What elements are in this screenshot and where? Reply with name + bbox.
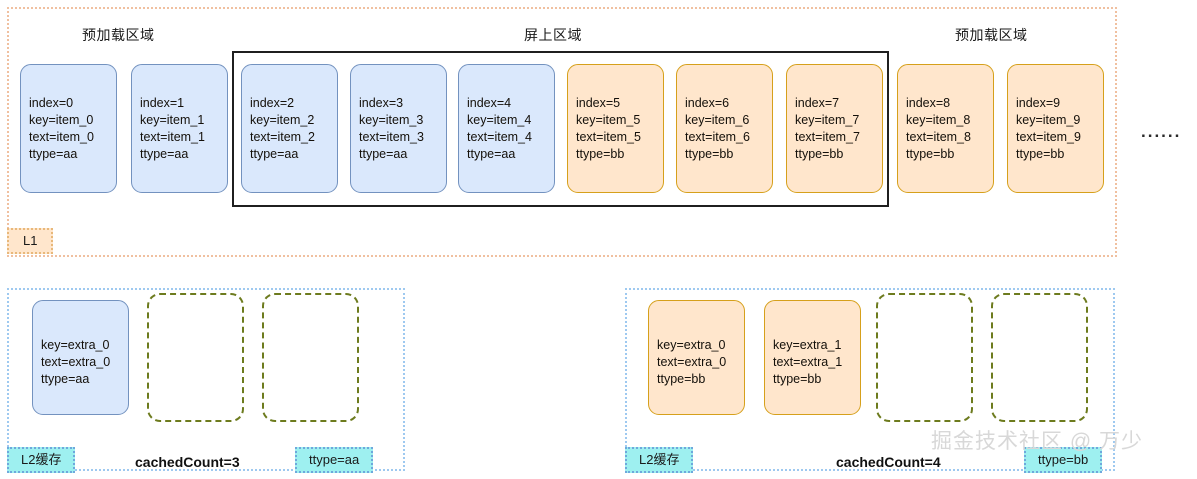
card-key: key=item_1 xyxy=(140,112,227,129)
l1-card[interactable]: index=9 key=item_9 text=item_9 ttype=bb xyxy=(1007,64,1104,193)
card-key: key=item_0 xyxy=(29,112,116,129)
l1-card[interactable]: index=5 key=item_5 text=item_5 ttype=bb xyxy=(567,64,664,193)
card-text: text=item_5 xyxy=(576,129,663,146)
watermark: 掘金技术社区 @ 万少 xyxy=(931,425,1143,455)
card-index: index=4 xyxy=(467,95,554,112)
card-text: text=extra_1 xyxy=(773,354,860,371)
card-key: key=item_4 xyxy=(467,112,554,129)
preload-region-right-title: 预加载区域 xyxy=(955,25,1028,45)
card-text: text=item_2 xyxy=(250,129,337,146)
card-text: text=item_3 xyxy=(359,129,446,146)
card-key: key=item_9 xyxy=(1016,112,1103,129)
l2-left-empty-slot xyxy=(262,293,359,422)
card-index: index=9 xyxy=(1016,95,1103,112)
l2-right-cached-count: cachedCount=4 xyxy=(836,454,941,470)
onscreen-region-title: 屏上区域 xyxy=(524,25,582,45)
card-text: text=item_1 xyxy=(140,129,227,146)
card-ttype: ttype=aa xyxy=(41,371,128,388)
card-text: text=extra_0 xyxy=(657,354,744,371)
card-index: index=0 xyxy=(29,95,116,112)
card-index: index=7 xyxy=(795,95,882,112)
card-key: key=extra_0 xyxy=(657,337,744,354)
card-ttype: ttype=aa xyxy=(250,146,337,163)
card-index: index=2 xyxy=(250,95,337,112)
card-ttype: ttype=aa xyxy=(359,146,446,163)
l2-left-ttype-badge: ttype=aa xyxy=(295,447,373,473)
card-index: index=5 xyxy=(576,95,663,112)
l2-left-card[interactable]: key=extra_0 text=extra_0 ttype=aa xyxy=(32,300,129,415)
card-index: index=8 xyxy=(906,95,993,112)
l2-left-cached-count: cachedCount=3 xyxy=(135,454,240,470)
card-ttype: ttype=bb xyxy=(906,146,993,163)
l2-right-badge: L2缓存 xyxy=(625,447,693,473)
card-key: key=extra_1 xyxy=(773,337,860,354)
card-text: text=item_8 xyxy=(906,129,993,146)
l1-card[interactable]: index=8 key=item_8 text=item_8 ttype=bb xyxy=(897,64,994,193)
card-ttype: ttype=bb xyxy=(773,371,860,388)
card-key: key=item_5 xyxy=(576,112,663,129)
l1-card[interactable]: index=4 key=item_4 text=item_4 ttype=aa xyxy=(458,64,555,193)
l2-left-empty-slot xyxy=(147,293,244,422)
l2-right-empty-slot xyxy=(991,293,1088,422)
card-ttype: ttype=bb xyxy=(685,146,772,163)
card-key: key=item_8 xyxy=(906,112,993,129)
card-text: text=item_9 xyxy=(1016,129,1103,146)
card-key: key=extra_0 xyxy=(41,337,128,354)
card-key: key=item_6 xyxy=(685,112,772,129)
card-text: text=item_4 xyxy=(467,129,554,146)
card-text: text=item_0 xyxy=(29,129,116,146)
card-ttype: ttype=aa xyxy=(140,146,227,163)
card-text: text=item_6 xyxy=(685,129,772,146)
card-index: index=3 xyxy=(359,95,446,112)
more-items-ellipsis: ...... xyxy=(1141,122,1181,142)
card-ttype: ttype=bb xyxy=(576,146,663,163)
l1-card[interactable]: index=3 key=item_3 text=item_3 ttype=aa xyxy=(350,64,447,193)
card-ttype: ttype=bb xyxy=(795,146,882,163)
card-index: index=1 xyxy=(140,95,227,112)
l1-card[interactable]: index=1 key=item_1 text=item_1 ttype=aa xyxy=(131,64,228,193)
card-ttype: ttype=aa xyxy=(467,146,554,163)
l1-card[interactable]: index=0 key=item_0 text=item_0 ttype=aa xyxy=(20,64,117,193)
card-ttype: ttype=bb xyxy=(1016,146,1103,163)
l2-left-badge: L2缓存 xyxy=(7,447,75,473)
preload-region-left-title: 预加载区域 xyxy=(82,25,155,45)
card-ttype: ttype=bb xyxy=(657,371,744,388)
l1-card[interactable]: index=6 key=item_6 text=item_6 ttype=bb xyxy=(676,64,773,193)
l1-badge: L1 xyxy=(7,228,53,254)
l2-right-card[interactable]: key=extra_1 text=extra_1 ttype=bb xyxy=(764,300,861,415)
card-index: index=6 xyxy=(685,95,772,112)
l1-card[interactable]: index=7 key=item_7 text=item_7 ttype=bb xyxy=(786,64,883,193)
card-text: text=extra_0 xyxy=(41,354,128,371)
card-key: key=item_2 xyxy=(250,112,337,129)
card-text: text=item_7 xyxy=(795,129,882,146)
l2-right-empty-slot xyxy=(876,293,973,422)
card-key: key=item_3 xyxy=(359,112,446,129)
l2-right-card[interactable]: key=extra_0 text=extra_0 ttype=bb xyxy=(648,300,745,415)
card-ttype: ttype=aa xyxy=(29,146,116,163)
card-key: key=item_7 xyxy=(795,112,882,129)
l1-card[interactable]: index=2 key=item_2 text=item_2 ttype=aa xyxy=(241,64,338,193)
diagram-canvas: 预加载区域 屏上区域 预加载区域 index=0 key=item_0 text… xyxy=(0,0,1197,479)
